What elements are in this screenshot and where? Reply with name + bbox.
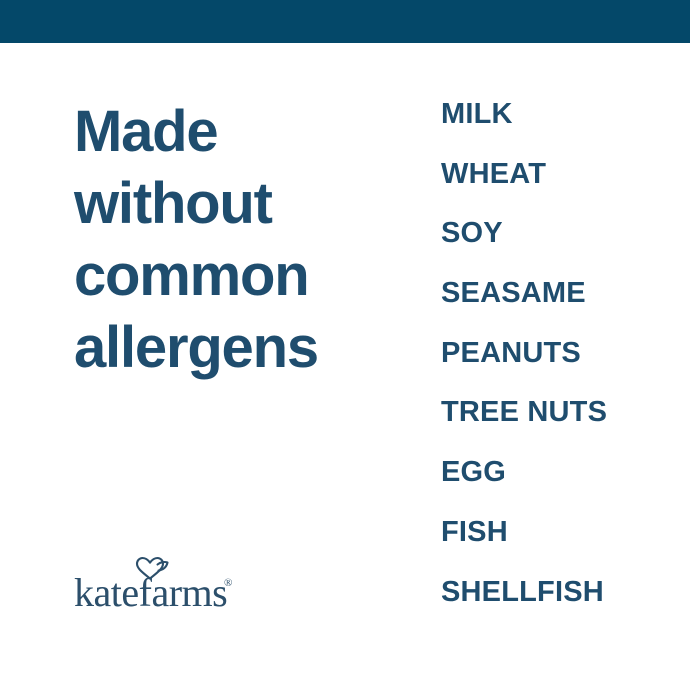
registered-trademark-icon: ® bbox=[224, 577, 232, 589]
brand-logo: katefarms ® bbox=[74, 556, 274, 612]
list-item: SEASAME bbox=[441, 277, 681, 337]
page-title: Made without common allergens bbox=[74, 96, 404, 384]
list-item: FISH bbox=[441, 516, 681, 576]
list-item: SOY bbox=[441, 217, 681, 277]
list-item: PEANUTS bbox=[441, 337, 681, 397]
list-item: TREE NUTS bbox=[441, 396, 681, 456]
list-item: WHEAT bbox=[441, 158, 681, 218]
list-item: EGG bbox=[441, 456, 681, 516]
allergen-info-poster: Made without common allergens MILK WHEAT… bbox=[0, 0, 690, 687]
top-navy-band bbox=[0, 0, 690, 43]
allergen-list: MILK WHEAT SOY SEASAME PEANUTS TREE NUTS… bbox=[441, 98, 681, 635]
logo-wordmark: katefarms bbox=[74, 572, 227, 614]
list-item: MILK bbox=[441, 98, 681, 158]
list-item: SHELLFISH bbox=[441, 576, 681, 636]
